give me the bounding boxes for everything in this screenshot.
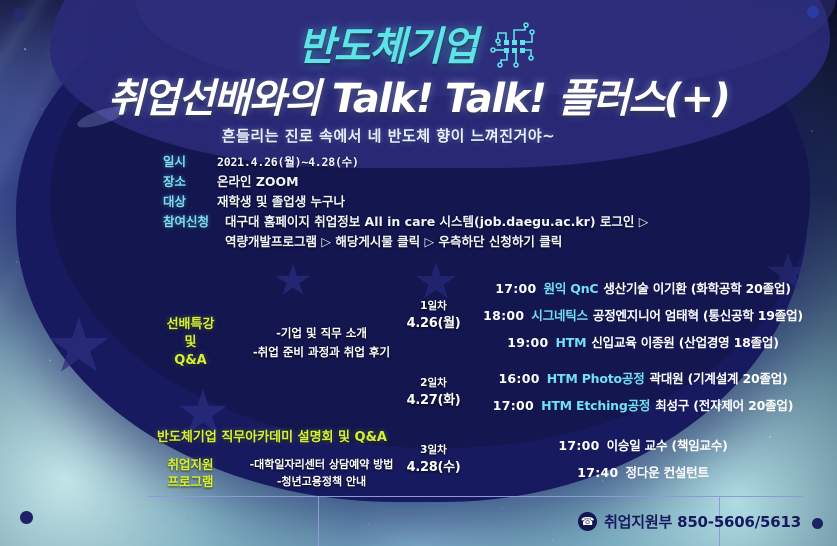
session-company: 원익 QnC bbox=[544, 281, 599, 296]
table-sessions-day-3: 17:00이승일 교수 (책임교수) 17:40정다운 컨설턴트 bbox=[471, 420, 803, 496]
poster-title-secondary: 취업선배와의 Talk! Talk! 플러스(+) bbox=[0, 78, 837, 120]
session-company: HTM Etching공정 bbox=[541, 398, 650, 413]
info-value-audience: 재학생 및 졸업생 누구나 bbox=[217, 192, 345, 212]
session-detail: 신입교육 이종원 (산업경영 18졸업) bbox=[591, 335, 778, 350]
category-line: 선배특강 bbox=[167, 317, 215, 332]
session-row: 17:40정다운 컨설턴트 bbox=[577, 462, 709, 481]
session-row: 18:00시그네틱스공정엔지니어 엄태혁 (통신공학 19졸업) bbox=[483, 305, 803, 324]
session-detail: 곽대원 (기계설계 20졸업) bbox=[650, 371, 788, 386]
session-time: 18:00 bbox=[483, 308, 524, 323]
category-line: 프로그램 bbox=[167, 474, 213, 489]
table-row-academy-briefing: 반도체기업 직무아카데미 설명회 및 Q&A bbox=[148, 420, 396, 450]
table-rule-col1 bbox=[318, 497, 319, 546]
session-time: 17:00 bbox=[493, 398, 534, 413]
session-row: 17:00HTM Etching공정최성구 (전자제어 20졸업) bbox=[493, 395, 793, 414]
info-label-audience: 대상 bbox=[163, 192, 217, 212]
session-row: 19:00HTM신입교육 이종원 (산업경영 18졸업) bbox=[507, 332, 779, 351]
footer-contact: ☎ 취업지원부 850-5606/5613 bbox=[578, 511, 801, 532]
desc-line: -기업 및 직무 소개 bbox=[276, 324, 367, 343]
session-time: 19:00 bbox=[507, 335, 548, 350]
category-line: 취업지원 bbox=[167, 457, 213, 472]
table-rule-top bbox=[148, 496, 803, 497]
table-day-1: 1일차 4.26(월) bbox=[396, 266, 471, 362]
category-line: Q&A bbox=[174, 353, 206, 368]
table-day-3: 3일차 4.28(수) bbox=[396, 420, 471, 496]
session-detail: 생산기술 이기환 (화학공학 20졸업) bbox=[603, 281, 790, 296]
desc-line: -청년고용정책 안내 bbox=[277, 473, 366, 490]
session-detail: 공정엔지니어 엄태혁 (통신공학 19졸업) bbox=[593, 308, 803, 323]
info-value-place: 온라인 ZOOM bbox=[217, 172, 299, 192]
session-time: 17:00 bbox=[558, 438, 599, 453]
day-number: 1일차 bbox=[420, 300, 447, 312]
info-row-audience: 대상 재학생 및 졸업생 누구나 bbox=[163, 192, 648, 212]
table-sessions-day-1: 17:00원익 QnC생산기술 이기환 (화학공학 20졸업) 18:00시그네… bbox=[471, 266, 803, 362]
day-number: 3일차 bbox=[420, 444, 447, 456]
table-category-support: 취업지원 프로그램 bbox=[148, 450, 233, 496]
day-date: 4.27(화) bbox=[407, 393, 461, 408]
session-detail: 정다운 컨설턴트 bbox=[626, 465, 709, 480]
session-time: 16:00 bbox=[498, 371, 539, 386]
day-date: 4.26(월) bbox=[407, 316, 461, 331]
session-row: 17:00이승일 교수 (책임교수) bbox=[558, 435, 727, 454]
table-day-2: 2일차 4.27(화) bbox=[396, 362, 471, 420]
schedule-table: 선배특강 및 Q&A -기업 및 직무 소개 -취업 준비 과정과 취업 후기 … bbox=[148, 266, 803, 496]
session-company: 시그네틱스 bbox=[531, 308, 588, 323]
info-row-date: 일시 2021.4.26(월)~4.28(수) bbox=[163, 152, 648, 172]
info-row-apply: 참여신청 대구대 홈페이지 취업정보 All in care 시스템(job.d… bbox=[163, 212, 648, 232]
session-detail: 최성구 (전자제어 20졸업) bbox=[655, 398, 793, 413]
title-block: 반도체기업 bbox=[0, 22, 837, 120]
poster-subtitle: 흔들리는 진로 속에서 네 반도체 향이 느껴진거야~ bbox=[0, 125, 837, 146]
poster-title-primary: 반도체기업 bbox=[298, 27, 477, 67]
info-row-place: 장소 온라인 ZOOM bbox=[163, 172, 648, 192]
circuit-chip-icon bbox=[485, 22, 539, 72]
desc-line: -취업 준비 과정과 취업 후기 bbox=[253, 343, 390, 362]
session-detail: 이승일 교수 (책임교수) bbox=[607, 438, 728, 453]
telephone-icon: ☎ bbox=[578, 512, 597, 531]
day-date: 4.28(수) bbox=[407, 460, 461, 475]
session-row: 16:00HTM Photo공정곽대원 (기계설계 20졸업) bbox=[498, 368, 787, 387]
info-value-apply-line1: 대구대 홈페이지 취업정보 All in care 시스템(job.daegu.… bbox=[225, 212, 648, 232]
session-company: HTM Photo공정 bbox=[547, 371, 645, 386]
title-line-1-wrap: 반도체기업 bbox=[298, 22, 539, 72]
info-value-apply-line2: 역량개발프로그램 ▷ 해당게시물 클릭 ▷ 우측하단 신청하기 클릭 bbox=[163, 232, 648, 252]
session-time: 17:00 bbox=[495, 281, 536, 296]
session-time: 17:40 bbox=[577, 465, 618, 480]
table-desc-support: -대학일자리센터 상담예약 방법 -청년고용정책 안내 bbox=[233, 450, 396, 496]
poster-root: 반도체기업 bbox=[0, 0, 837, 546]
info-value-date: 2021.4.26(월)~4.28(수) bbox=[217, 152, 359, 172]
desc-line: -대학일자리센터 상담예약 방법 bbox=[250, 456, 394, 473]
info-label-apply: 참여신청 bbox=[163, 212, 225, 232]
table-desc-lecture: -기업 및 직무 소개 -취업 준비 과정과 취업 후기 bbox=[233, 266, 396, 420]
footer-contact-text: 취업지원부 850-5606/5613 bbox=[604, 511, 801, 532]
session-row: 17:00원익 QnC생산기술 이기환 (화학공학 20졸업) bbox=[495, 278, 791, 297]
session-company: HTM bbox=[556, 335, 587, 350]
table-category-lecture: 선배특강 및 Q&A bbox=[148, 266, 233, 420]
event-info-block: 일시 2021.4.26(월)~4.28(수) 장소 온라인 ZOOM 대상 재… bbox=[163, 152, 648, 252]
table-sessions-day-2: 16:00HTM Photo공정곽대원 (기계설계 20졸업) 17:00HTM… bbox=[471, 362, 803, 420]
info-label-date: 일시 bbox=[163, 152, 217, 172]
info-label-place: 장소 bbox=[163, 172, 217, 192]
day-number: 2일차 bbox=[420, 377, 447, 389]
category-line: 및 bbox=[185, 335, 197, 350]
